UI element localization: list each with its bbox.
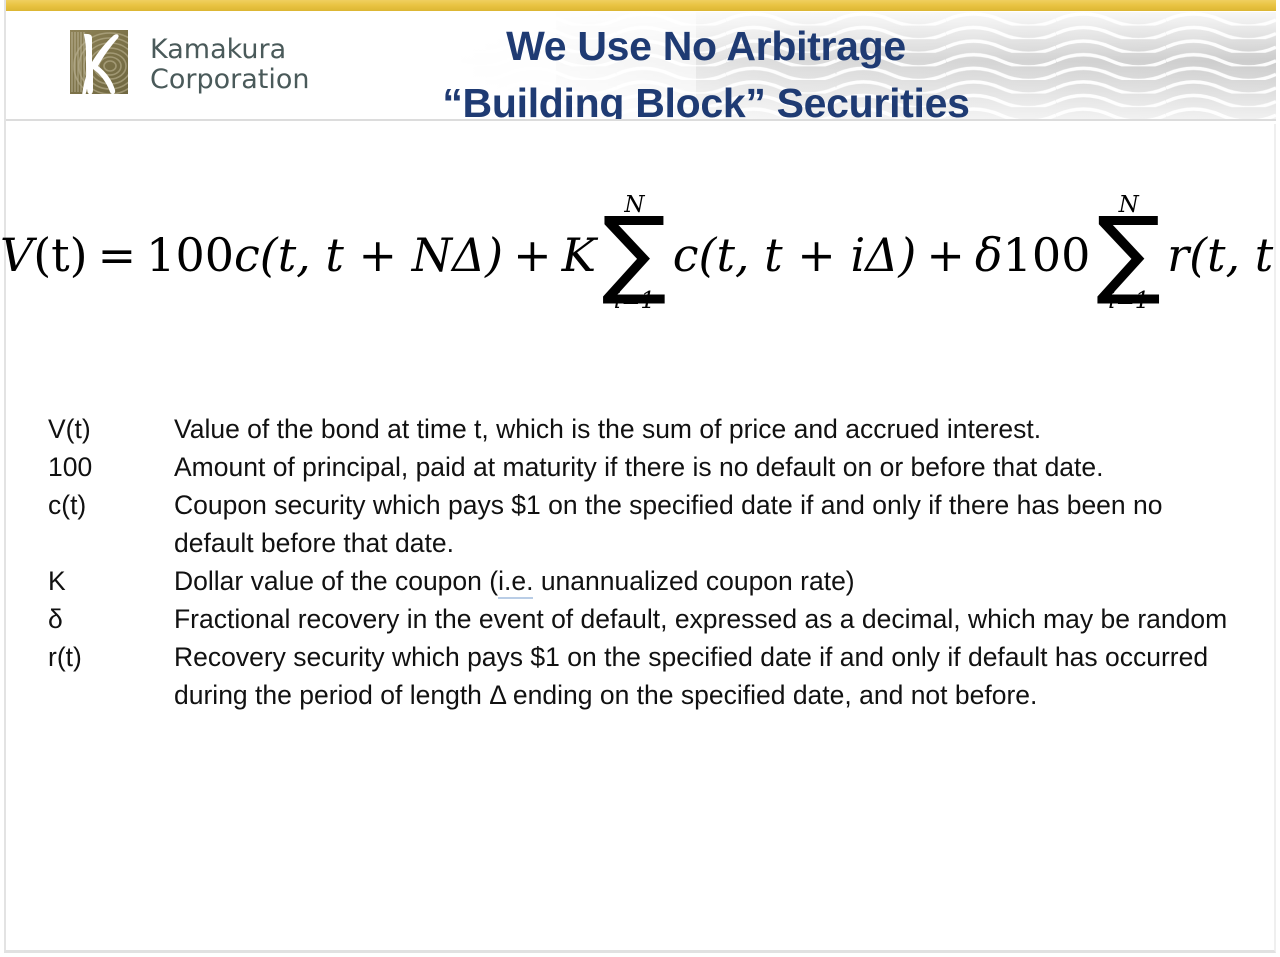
definition-term: r(t) [48,638,174,676]
brand-line-2: Corporation [150,65,310,95]
definition-row: c(t) Coupon security which pays $1 on th… [48,486,1248,562]
formula-term1-coefficient: 100 [146,232,234,278]
summation-2-lower-limit: i=1 [1108,290,1149,313]
definition-description: Fractional recovery in the event of defa… [174,600,1248,638]
formula-equals: = [98,232,137,278]
brand-line-1: Kamakura [150,35,310,65]
slide-header: Kamakura Corporation We Use No Arbitrage… [6,0,1276,124]
definition-text-before: Dollar value of the coupon ( [174,566,498,596]
gold-accent-bar [6,0,1276,11]
bond-value-formula: V(t) = 100c(t, t + NΔ) + K N ∑ i=1 c(t, … [0,196,1280,315]
formula-plus-1: + [513,232,552,278]
spellcheck-marked-text: i.e. [498,566,533,599]
definition-row: K Dollar value of the coupon (i.e. unann… [48,562,1248,600]
definition-description: Coupon security which pays $1 on the spe… [174,486,1248,562]
formula-term3-argument: (t, t + iΔ) [1189,232,1280,278]
slide-title: We Use No Arbitrage “Building Block” Sec… [306,18,1106,121]
formula-recovery-fraction: δ [975,232,1003,278]
formula-expression: V(t) = 100c(t, t + NΔ) + K N ∑ i=1 c(t, … [0,196,1280,315]
formula-term3-function: r [1167,232,1189,278]
formula-term2-argument: (t, t + iΔ) [699,232,917,278]
definition-description: Dollar value of the coupon (i.e. unannua… [174,562,1248,600]
formula-term1-function: c [234,232,260,278]
formula-coupon-multiplier: K [562,232,596,278]
formula-term1-argument: (t, t + NΔ) [260,232,503,278]
slide-title-line-2: “Building Block” Securities [306,75,1106,121]
definition-term: δ [48,600,174,638]
brand-logo: Kamakura Corporation [62,26,310,104]
sigma-icon: ∑ [1096,213,1161,292]
formula-term2-function: c [673,232,699,278]
definition-term: V(t) [48,410,174,448]
definition-description: Recovery security which pays $1 on the s… [174,638,1248,714]
definition-description: Value of the bond at time t, which is th… [174,410,1248,448]
definition-row: r(t) Recovery security which pays $1 on … [48,638,1248,714]
definition-term: c(t) [48,486,174,524]
header-body: Kamakura Corporation We Use No Arbitrage… [6,12,1276,121]
definition-term: K [48,562,174,600]
definition-term: 100 [48,448,174,486]
summation-2: N ∑ i=1 [1096,194,1161,313]
definition-description: Amount of principal, paid at maturity if… [174,448,1248,486]
kamakura-k-logo-icon [62,26,136,104]
brand-wordmark: Kamakura Corporation [150,35,310,95]
summation-1-lower-limit: i=1 [614,290,655,313]
slide-canvas: Kamakura Corporation We Use No Arbitrage… [0,0,1280,957]
formula-lhs-arg: (t) [33,232,87,278]
summation-1: N ∑ i=1 [602,194,667,313]
symbol-definition-list: V(t) Value of the bond at time t, which … [48,410,1248,714]
sigma-icon: ∑ [602,213,667,292]
definition-row: V(t) Value of the bond at time t, which … [48,410,1248,448]
formula-term3-coefficient: 100 [1003,232,1091,278]
definition-row: δ Fractional recovery in the event of de… [48,600,1248,638]
definition-text-after: unannualized coupon rate) [533,566,854,596]
slide-title-line-1: We Use No Arbitrage [306,18,1106,75]
definition-row: 100 Amount of principal, paid at maturit… [48,448,1248,486]
formula-lhs-symbol: V [0,232,33,278]
formula-plus-2: + [926,232,965,278]
